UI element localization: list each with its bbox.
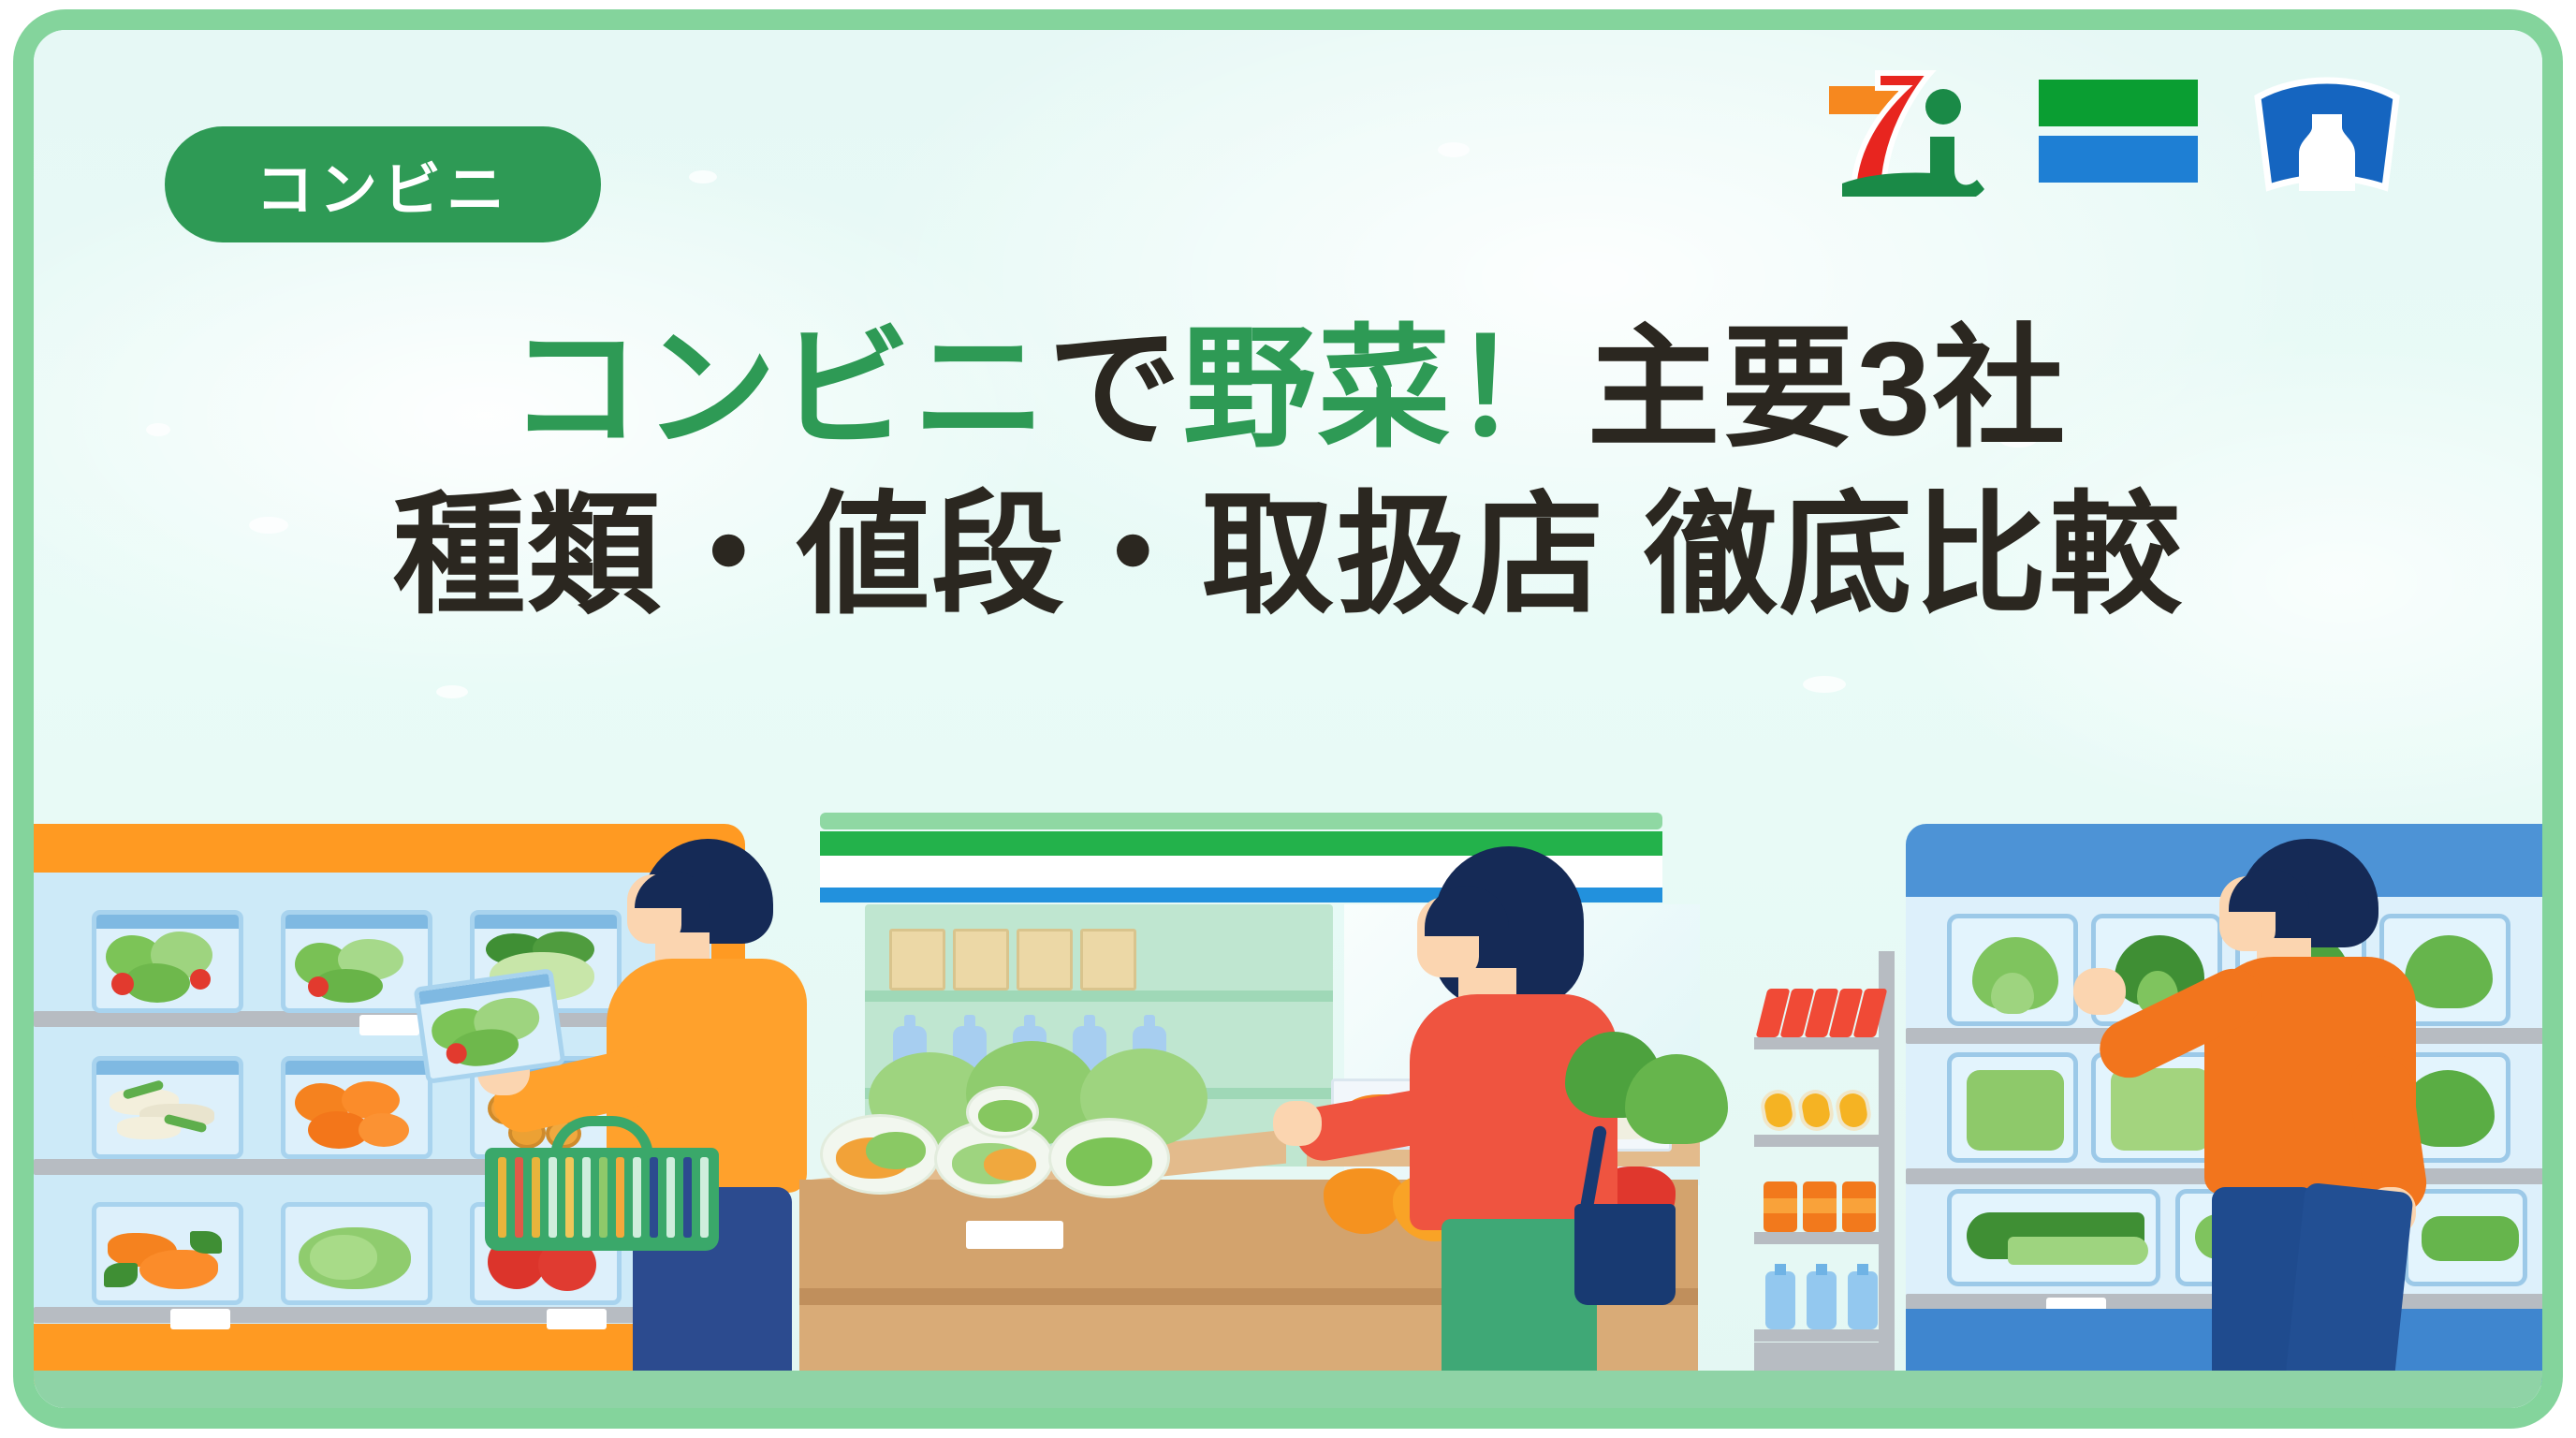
basket-slot xyxy=(633,1157,641,1238)
price-tag xyxy=(359,1015,419,1035)
bottle-neck xyxy=(904,1015,915,1030)
rack-shelf xyxy=(865,990,1333,1002)
gondola-shelf xyxy=(1754,1329,1895,1342)
basket-slot xyxy=(582,1157,591,1238)
bottle-neck xyxy=(1144,1015,1155,1030)
vegetable-pack xyxy=(92,1056,243,1159)
lettuce-leaf xyxy=(124,963,190,1003)
price-tag xyxy=(170,1309,230,1329)
bottle-cap xyxy=(1816,1264,1827,1275)
salad-contents xyxy=(1066,1137,1152,1186)
pack-seal xyxy=(96,915,239,929)
basket-slot xyxy=(532,1157,540,1238)
pack-seal xyxy=(96,1061,239,1075)
juice-row xyxy=(1764,1181,1881,1232)
greens-pack xyxy=(1947,1052,2078,1163)
snack-box xyxy=(889,929,945,990)
familymart-green-bar xyxy=(2039,80,2198,126)
basket-slot xyxy=(666,1157,675,1238)
hand xyxy=(1273,1101,1322,1146)
basket-slot xyxy=(515,1157,523,1238)
familymart-logo xyxy=(2039,80,2198,183)
shopping-basket xyxy=(485,1120,719,1251)
held-salad-pack xyxy=(413,968,565,1084)
juice-label xyxy=(1764,1198,1797,1213)
snack-box xyxy=(1080,929,1136,990)
water-bottle xyxy=(1807,1271,1837,1329)
headline-seg-konbini: コンビニ xyxy=(509,315,1048,463)
salad-contents xyxy=(978,1100,1032,1132)
juice-label xyxy=(1803,1198,1837,1213)
water-bottle xyxy=(1765,1271,1795,1329)
gondola-shelf xyxy=(1754,1135,1895,1147)
bottle-neck xyxy=(964,1015,975,1030)
bottle-cap xyxy=(2540,1155,2561,1168)
familymart-blue-bar xyxy=(2039,136,2198,183)
carrot-leaf xyxy=(190,1231,222,1254)
gondola-shelf xyxy=(1754,1232,1895,1244)
salad-contents xyxy=(866,1132,926,1169)
salad-pack xyxy=(820,1114,940,1195)
cabbage-highlight xyxy=(310,1235,377,1280)
vegetable-pack xyxy=(281,1202,432,1305)
store-banner-light xyxy=(820,813,1662,829)
illustration xyxy=(34,800,2542,1408)
infographic-card: コンビニ コンビニで野菜！主要3 xyxy=(13,9,2563,1429)
pack-seal xyxy=(285,915,428,929)
background-speck xyxy=(1803,676,1846,693)
corn-pack xyxy=(1795,1087,1836,1134)
basket-slot xyxy=(549,1157,557,1238)
basket-slot xyxy=(700,1157,709,1238)
headline-seg-yasai: 野菜！ xyxy=(1183,315,1588,463)
right-shopper xyxy=(2191,839,2453,1408)
carrot-piece xyxy=(359,1113,409,1147)
water-bottle xyxy=(1848,1271,1878,1329)
bottle-neck xyxy=(1084,1015,1095,1030)
brand-logo-row xyxy=(1825,66,2402,197)
cherry-tomato xyxy=(308,976,329,997)
basket-slot xyxy=(599,1157,607,1238)
greens-pack xyxy=(1947,1189,2160,1286)
long-greens-stem xyxy=(2008,1237,2148,1265)
bottle-cap xyxy=(1775,1264,1786,1275)
price-tag xyxy=(966,1221,1063,1249)
headline-seg-shuyou3sha: 主要3社 xyxy=(1588,315,2068,463)
basket-slot xyxy=(650,1157,658,1238)
carrot-leaf xyxy=(104,1263,138,1287)
left-cooler-scene xyxy=(34,809,773,1408)
headline: コンビニで野菜！主要3社 種類・値段・取扱店 徹底比較 xyxy=(34,311,2542,634)
basket-body xyxy=(485,1148,719,1251)
salad-pack xyxy=(966,1086,1039,1138)
corn-pack xyxy=(1833,1087,1873,1134)
basket-slot xyxy=(565,1157,574,1238)
vegetable-pack xyxy=(92,910,243,1013)
cherry-tomato xyxy=(190,969,211,990)
center-produce-scene xyxy=(783,809,1737,1408)
stem xyxy=(1991,973,2034,1014)
corn-pack xyxy=(1758,1087,1798,1134)
snack-row xyxy=(1762,1088,1881,1133)
background-speck xyxy=(1438,142,1470,157)
bottle-cap xyxy=(1857,1264,1868,1275)
seven-eleven-icon xyxy=(1825,66,1984,197)
seven-eleven-logo xyxy=(1825,66,1984,197)
napa-cabbage xyxy=(1967,1070,2064,1151)
center-shopper xyxy=(1400,846,1653,1408)
vegetable-pack xyxy=(92,1202,243,1305)
vegetable-pack xyxy=(281,1056,432,1159)
background-speck xyxy=(689,170,717,183)
basket-slot xyxy=(616,1157,624,1238)
headline-line-1: コンビニで野菜！主要3社 xyxy=(34,311,2542,468)
category-badge: コンビニ xyxy=(165,126,601,242)
snack-row xyxy=(1762,989,1881,1037)
carrot xyxy=(139,1250,218,1289)
gondola-shelf xyxy=(1754,1037,1895,1049)
hand xyxy=(2073,968,2126,1015)
tote-bag xyxy=(1574,1204,1676,1305)
lawson-logo xyxy=(2252,69,2402,193)
pack-seal xyxy=(285,1061,428,1075)
floor xyxy=(34,1371,2542,1408)
salad-pack xyxy=(1048,1118,1170,1198)
cherry-tomato xyxy=(111,973,134,995)
lawson-milk-bottle-icon xyxy=(2252,69,2402,193)
bottle-neck xyxy=(1024,1015,1035,1030)
juice-label xyxy=(1842,1198,1876,1213)
salad-contents xyxy=(984,1149,1036,1181)
side-gondola xyxy=(1754,951,1895,1382)
basket-slot xyxy=(498,1157,506,1238)
vegetable-pack xyxy=(281,910,432,1013)
basket-slot xyxy=(683,1157,692,1238)
headline-line-2: 種類・値段・取扱店 徹底比較 xyxy=(34,477,2542,635)
background-speck xyxy=(436,685,468,698)
snack-box xyxy=(1017,929,1073,990)
category-badge-label: コンビニ xyxy=(256,142,510,227)
headline-subline: 種類・値段・取扱店 徹底比較 xyxy=(392,481,2183,630)
headline-seg-de: で xyxy=(1048,315,1183,463)
snack-box xyxy=(953,929,1009,990)
greens-pack xyxy=(1947,914,2078,1026)
water-row xyxy=(1765,1264,1881,1329)
